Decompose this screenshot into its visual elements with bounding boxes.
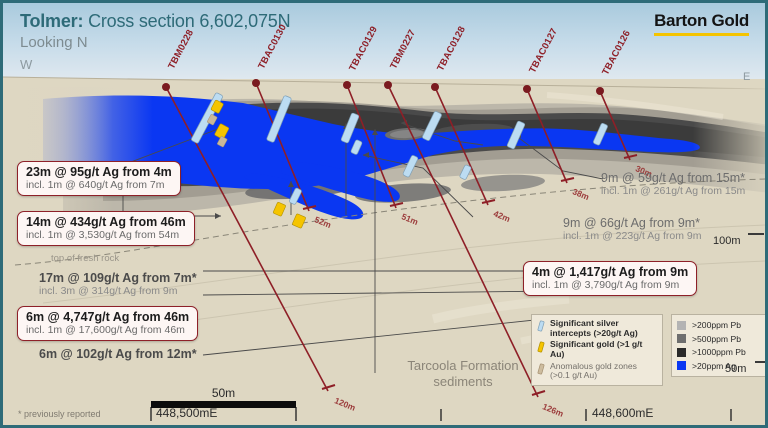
page-title: Tolmer: Cross section 6,602,075N <box>20 11 290 32</box>
silver-intercept-icon <box>537 319 547 338</box>
intercept-incl-5: incl. 1m @ 261g/t Ag from 15m <box>601 185 745 197</box>
page-subtitle: Looking N <box>20 34 88 51</box>
scale-label-50m-right: 50m <box>725 363 746 375</box>
coordinate-label-1: 448,600mE <box>592 406 653 420</box>
intercept-incl-0: incl. 1m @ 640g/t Ag from 7m <box>26 179 172 191</box>
intercept-callout-7: 4m @ 1,417g/t Ag from 9m incl. 1m @ 3,79… <box>523 261 697 296</box>
legend-label-gold: Significant gold (>1 g/t Au) <box>550 340 658 359</box>
intercept-incl-3: incl. 1m @ 17,600g/t Ag from 46m <box>26 324 189 336</box>
legend-label-silver: Significant silver intercepts (>20g/t Ag… <box>550 319 658 338</box>
intercept-incl-7: incl. 1m @ 3,790g/t Ag from 9m <box>532 279 688 291</box>
scale-bar-horizontal: 50m <box>151 386 296 408</box>
intercept-text-5: 9m @ 59g/t Ag from 15m* incl. 1m @ 261g/… <box>601 171 745 197</box>
intercept-incl-2: incl. 3m @ 314g/t Ag from 9m <box>39 285 197 297</box>
swatch-color-2 <box>677 348 686 357</box>
gold-intercept-icon <box>537 340 547 359</box>
compass-west-label: W <box>20 57 32 72</box>
intercept-callout-1: 14m @ 434g/t Ag from 46m incl. 1m @ 3,53… <box>17 211 195 246</box>
swatch-label-1: >500ppm Pb <box>692 334 741 344</box>
legend-label-anomalous: Anomalous gold zones (>0.1 g/t Au) <box>550 362 658 381</box>
legend-item-anomalous: Anomalous gold zones (>0.1 g/t Au) <box>537 362 658 381</box>
swatch-row-0: >200ppm Pb <box>677 320 762 330</box>
swatch-row-1: >500ppm Pb <box>677 334 762 344</box>
intercept-main-3: 6m @ 4,747g/t Ag from 46m <box>26 310 189 324</box>
intercept-text-2: 17m @ 109g/t Ag from 7m* incl. 3m @ 314g… <box>39 271 197 297</box>
formation-label: Tarcoola Formationsediments <box>388 358 538 391</box>
intercept-text-6: 9m @ 66g/t Ag from 9m* incl. 1m @ 223g/t… <box>563 216 701 242</box>
figure-canvas: Tolmer: Cross section 6,602,075N Looking… <box>0 0 768 428</box>
brand-name: Barton Gold <box>654 11 749 31</box>
legend-item-silver: Significant silver intercepts (>20g/t Ag… <box>537 319 658 338</box>
intercept-main-0: 23m @ 95g/t Ag from 4m <box>26 165 172 179</box>
swatch-color-1 <box>677 334 686 343</box>
footnote: * previously reported <box>18 409 101 419</box>
brand-underline <box>654 33 749 36</box>
anomalous-gold-icon <box>537 362 547 381</box>
intercept-main-1: 14m @ 434g/t Ag from 46m <box>26 215 186 229</box>
swatch-label-2: >1000ppm Pb <box>692 347 746 357</box>
intercept-main-5: 9m @ 59g/t Ag from 15m* <box>601 171 745 185</box>
legend-symbols: Significant silver intercepts (>20g/t Ag… <box>531 314 663 386</box>
swatch-row-2: >1000ppm Pb <box>677 347 762 357</box>
legend-swatches: >200ppm Pb >500ppm Pb >1000ppm Pb >20ppm… <box>671 314 767 377</box>
swatch-color-3 <box>677 361 686 370</box>
scale-tick-100m <box>748 233 764 235</box>
intercept-main-7: 4m @ 1,417g/t Ag from 9m <box>532 265 688 279</box>
intercept-incl-6: incl. 1m @ 223g/t Ag from 9m <box>563 230 701 242</box>
page-title-bold: Tolmer: <box>20 11 83 31</box>
fresh-rock-label: top of fresh rock <box>51 253 119 264</box>
swatch-label-0: >200ppm Pb <box>692 320 741 330</box>
intercept-incl-1: incl. 1m @ 3,530g/t Ag from 54m <box>26 229 186 241</box>
compass-east-label: E <box>743 71 750 83</box>
scale-tick-50m-right <box>755 361 768 363</box>
scale-label-100m: 100m <box>713 235 741 247</box>
scale-bar-label: 50m <box>151 386 296 400</box>
intercept-callout-0: 23m @ 95g/t Ag from 4m incl. 1m @ 640g/t… <box>17 161 181 196</box>
intercept-main-2: 17m @ 109g/t Ag from 7m* <box>39 271 197 285</box>
intercept-text-4: 6m @ 102g/t Ag from 12m* <box>39 347 197 361</box>
intercept-callout-3: 6m @ 4,747g/t Ag from 46m incl. 1m @ 17,… <box>17 306 198 341</box>
intercept-main-4: 6m @ 102g/t Ag from 12m* <box>39 347 197 361</box>
swatch-row-3: >20ppm Ag <box>677 361 762 371</box>
coordinate-label-0: 448,500mE <box>156 406 217 420</box>
swatch-color-0 <box>677 321 686 330</box>
brand-logo: Barton Gold <box>654 11 749 36</box>
legend-item-gold: Significant gold (>1 g/t Au) <box>537 340 658 359</box>
intercept-main-6: 9m @ 66g/t Ag from 9m* <box>563 216 701 230</box>
